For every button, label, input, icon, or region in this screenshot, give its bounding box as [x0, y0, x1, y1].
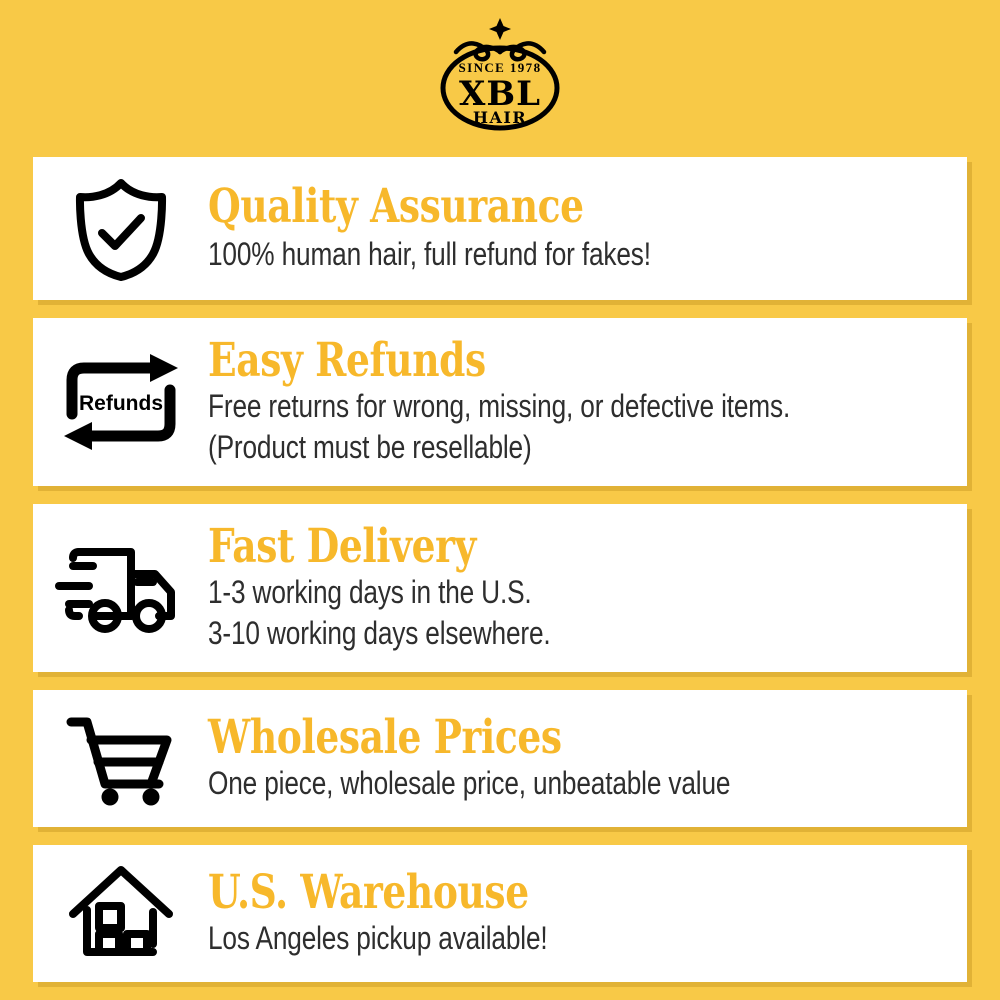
card-title: Easy Refunds	[208, 336, 802, 385]
brand-header: SINCE 1978 XBL HAIR	[0, 0, 1000, 150]
card-subtitle-line: Los Angeles pickup available!	[208, 918, 817, 959]
card-title: U.S. Warehouse	[208, 868, 802, 917]
feature-card-wholesale-prices[interactable]: Wholesale Prices One piece, wholesale pr…	[33, 690, 967, 827]
logo-sub-text: HAIR	[473, 108, 527, 127]
card-subtitle-line: (Product must be resellable)	[208, 427, 817, 468]
logo-since-text: SINCE 1978	[459, 60, 542, 75]
card-text-block: U.S. Warehouse Los Angeles pickup availa…	[208, 868, 967, 958]
refund-icon-label: Refunds	[79, 392, 163, 415]
card-text-block: Easy Refunds Free returns for wrong, mis…	[208, 336, 967, 467]
feature-card-us-warehouse[interactable]: U.S. Warehouse Los Angeles pickup availa…	[33, 845, 967, 982]
card-text-block: Wholesale Prices One piece, wholesale pr…	[208, 713, 967, 803]
card-title: Quality Assurance	[208, 182, 802, 231]
card-title: Fast Delivery	[208, 522, 802, 571]
card-subtitle-line: Free returns for wrong, missing, or defe…	[208, 386, 817, 427]
feature-card-quality-assurance[interactable]: Quality Assurance 100% human hair, full …	[33, 157, 967, 300]
card-text-block: Quality Assurance 100% human hair, full …	[208, 182, 967, 274]
refund-arrows-icon: Refunds	[33, 352, 208, 452]
card-title: Wholesale Prices	[208, 713, 802, 762]
sparkle-icon	[489, 18, 511, 40]
warehouse-house-icon	[33, 864, 208, 964]
shield-check-icon	[33, 176, 208, 282]
feature-card-fast-delivery[interactable]: Fast Delivery 1-3 working days in the U.…	[33, 504, 967, 672]
feature-card-easy-refunds[interactable]: Refunds Easy Refunds Free returns for wr…	[33, 318, 967, 486]
delivery-truck-icon	[33, 542, 208, 634]
card-subtitle-line: 100% human hair, full refund for fakes!	[208, 234, 817, 275]
xbl-hair-logo: SINCE 1978 XBL HAIR	[420, 16, 580, 134]
shopping-cart-icon	[33, 712, 208, 806]
feature-card-list: Quality Assurance 100% human hair, full …	[33, 157, 967, 1000]
card-text-block: Fast Delivery 1-3 working days in the U.…	[208, 522, 967, 653]
card-subtitle-line: One piece, wholesale price, unbeatable v…	[208, 763, 817, 804]
card-subtitle-line: 1-3 working days in the U.S.	[208, 572, 817, 613]
card-subtitle-line: 3-10 working days elsewhere.	[208, 613, 817, 654]
